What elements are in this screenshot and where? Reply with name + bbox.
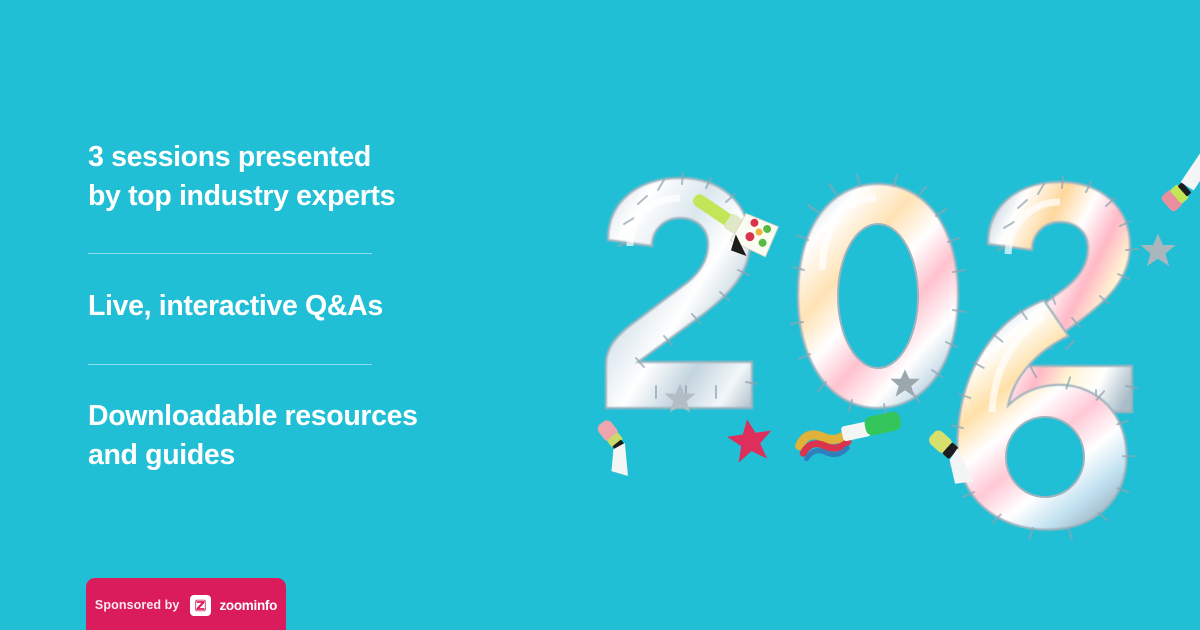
balloon-digit-2-first [606, 173, 758, 408]
glitter-star-silver-icon [1141, 234, 1176, 267]
divider-2 [88, 364, 372, 365]
party-blower-white-icon [1154, 140, 1200, 212]
balloon-year-artwork [560, 150, 1180, 500]
party-blower-pink-icon [584, 418, 643, 482]
sponsored-by-label: Sponsored by [95, 598, 180, 612]
party-blower-rainbow-icon [797, 411, 905, 462]
bullet-item-1-line-2: by top industry experts [88, 177, 508, 216]
zoominfo-wordmark: zoominfo [219, 598, 277, 613]
sponsor-badge[interactable]: Sponsored by zoominfo [86, 578, 286, 630]
bullet-item-2: Live, interactive Q&As [88, 287, 508, 326]
balloon-digit-0 [791, 175, 965, 415]
glitter-star-pink-icon [725, 416, 775, 463]
bullet-item-1-line-1: 3 sessions presented [88, 138, 508, 177]
bullet-item-3-line-2: and guides [88, 436, 508, 475]
zoominfo-logo-lockup: zoominfo [190, 595, 277, 616]
balloon-digit-6 [950, 294, 1134, 539]
divider-1 [88, 253, 372, 254]
bullet-item-3-line-1: Downloadable resources [88, 397, 508, 436]
bullet-item-3: Downloadable resources and guides [88, 397, 508, 475]
bullet-list: 3 sessions presented by top industry exp… [88, 138, 508, 475]
bullet-item-1: 3 sessions presented by top industry exp… [88, 138, 508, 216]
zoominfo-mark-icon [190, 595, 211, 616]
promo-banner: 3 sessions presented by top industry exp… [0, 0, 1200, 630]
